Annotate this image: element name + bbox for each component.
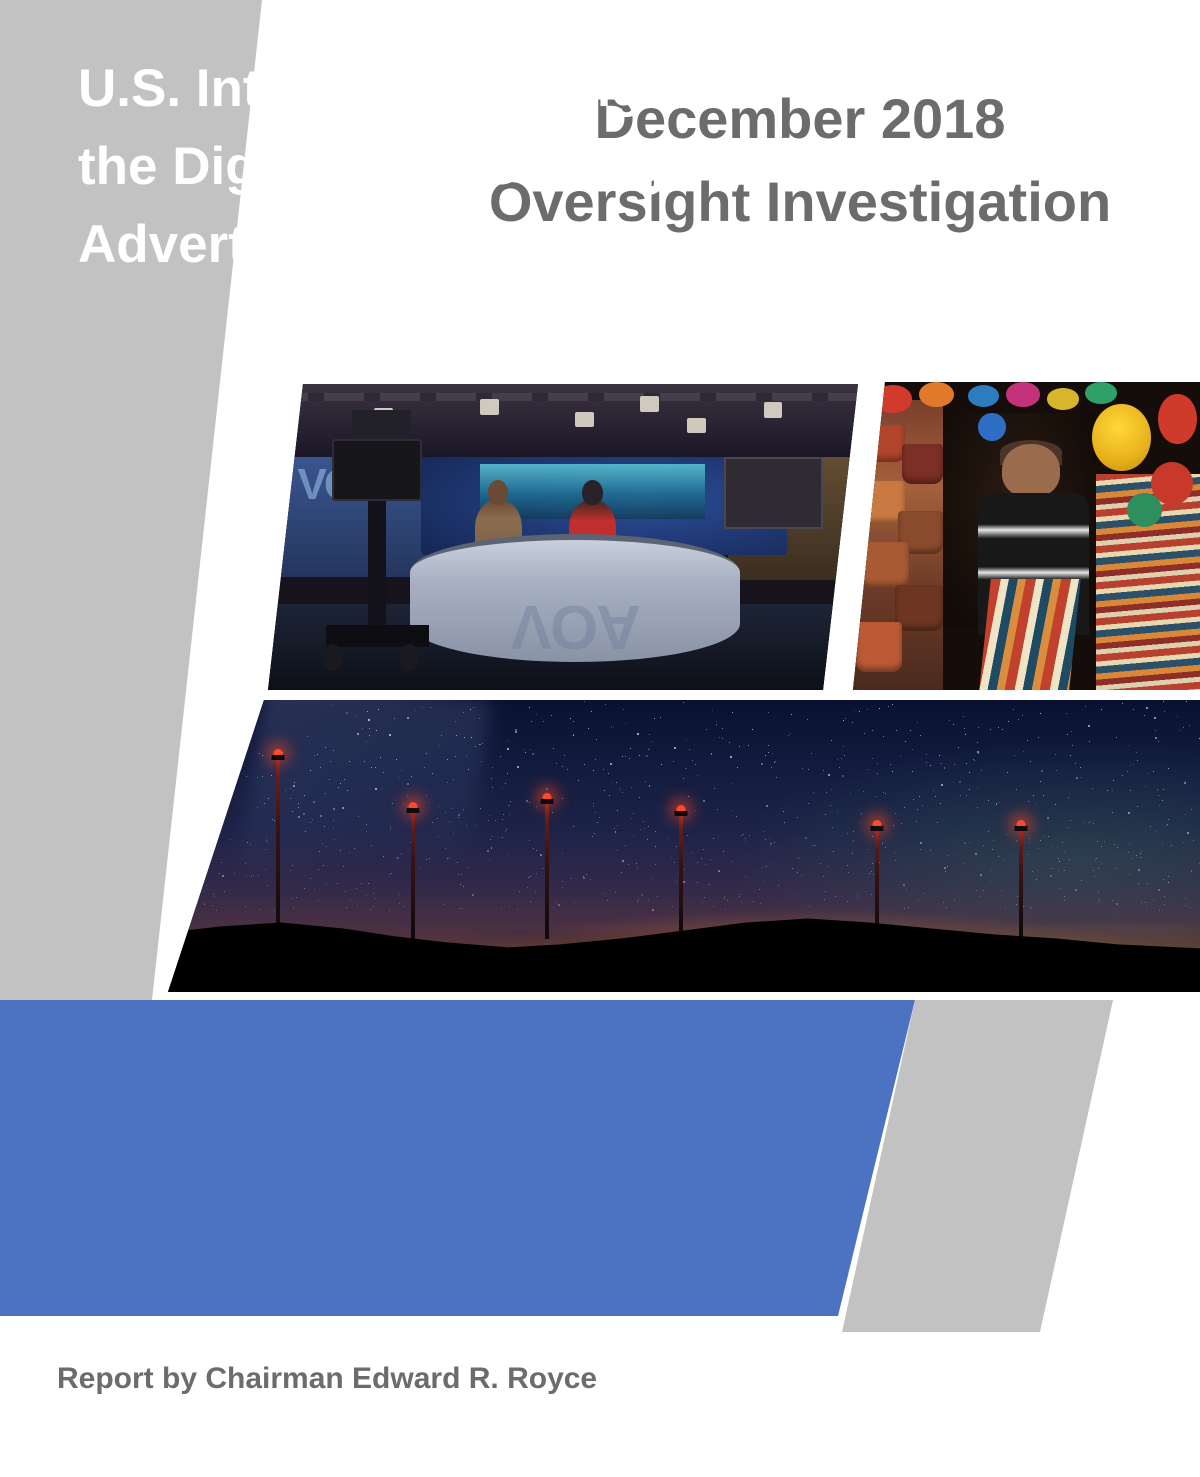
photo-voa-television-studio: VOA VOA: [268, 384, 858, 690]
studio-desk-voa-logo: VOA: [511, 591, 639, 662]
title-line-3: Advertising Right: [78, 206, 818, 284]
title-line-2: the Digital Age: Getting: [78, 128, 818, 206]
report-byline: Report by Chairman Edward R. Royce: [57, 1362, 597, 1396]
photo-bazaar-textile-merchant: [853, 382, 1200, 690]
photo-collage: VOA VOA: [0, 370, 1200, 1000]
broadcast-camera: [321, 439, 433, 678]
title-banner: [0, 1000, 915, 1316]
photo-night-sky-transmission-towers: [168, 700, 1200, 992]
title-line-1: U.S. Int’l Broadcasting in: [78, 50, 818, 128]
report-cover-page: VOA VOA: [0, 0, 1200, 1477]
page-title: U.S. Int’l Broadcasting in the Digital A…: [78, 50, 818, 284]
